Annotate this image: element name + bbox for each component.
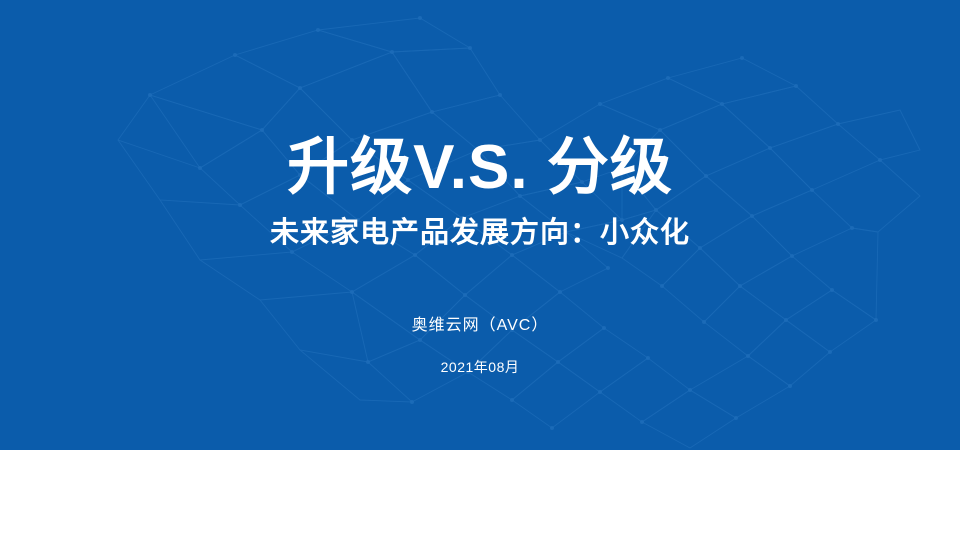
polygon-network-pattern: [0, 0, 960, 450]
slide-background: [0, 0, 960, 450]
slide-footer: 奥维云网 ALL VIEW CLOUD: [0, 450, 960, 540]
presentation-slide: 升级V.S. 分级 未来家电产品发展方向：小众化 奥维云网（AVC） 2021年…: [0, 0, 960, 540]
